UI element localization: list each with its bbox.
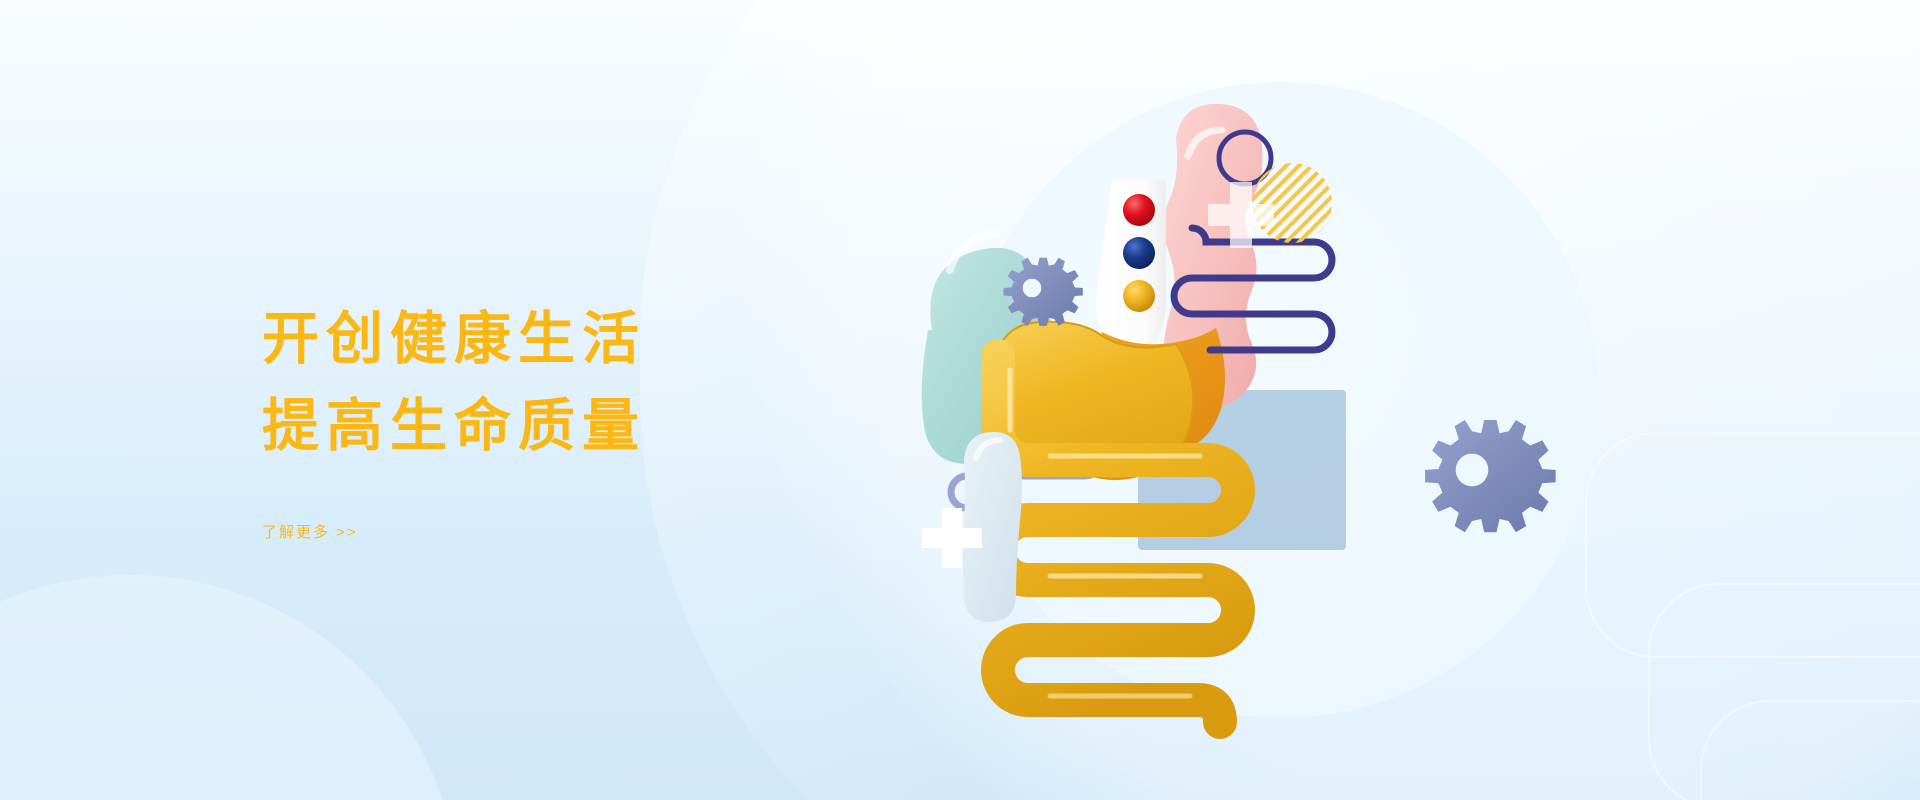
hatched-circle-icon [1252, 163, 1332, 243]
gear-large-icon [1425, 420, 1556, 532]
dot-red [1123, 194, 1155, 226]
dot-yellow [1123, 280, 1155, 312]
headline-line-2: 提高生命质量 [262, 383, 882, 470]
learn-more-link[interactable]: 了解更多 >> [262, 521, 358, 542]
background-rounded-rect-3 [1700, 700, 1920, 800]
hero-copy-block: 开创健康生活 提高生命质量 了解更多 >> [262, 296, 882, 542]
digestive-health-illustration [880, 60, 1700, 760]
dot-navy [1123, 237, 1155, 269]
hero-banner: 开创健康生活 提高生命质量 了解更多 >> [0, 0, 1920, 800]
pancreas-organ [963, 432, 1022, 622]
headline-line-1: 开创健康生活 [262, 296, 882, 383]
background-corner-circle [0, 575, 460, 800]
